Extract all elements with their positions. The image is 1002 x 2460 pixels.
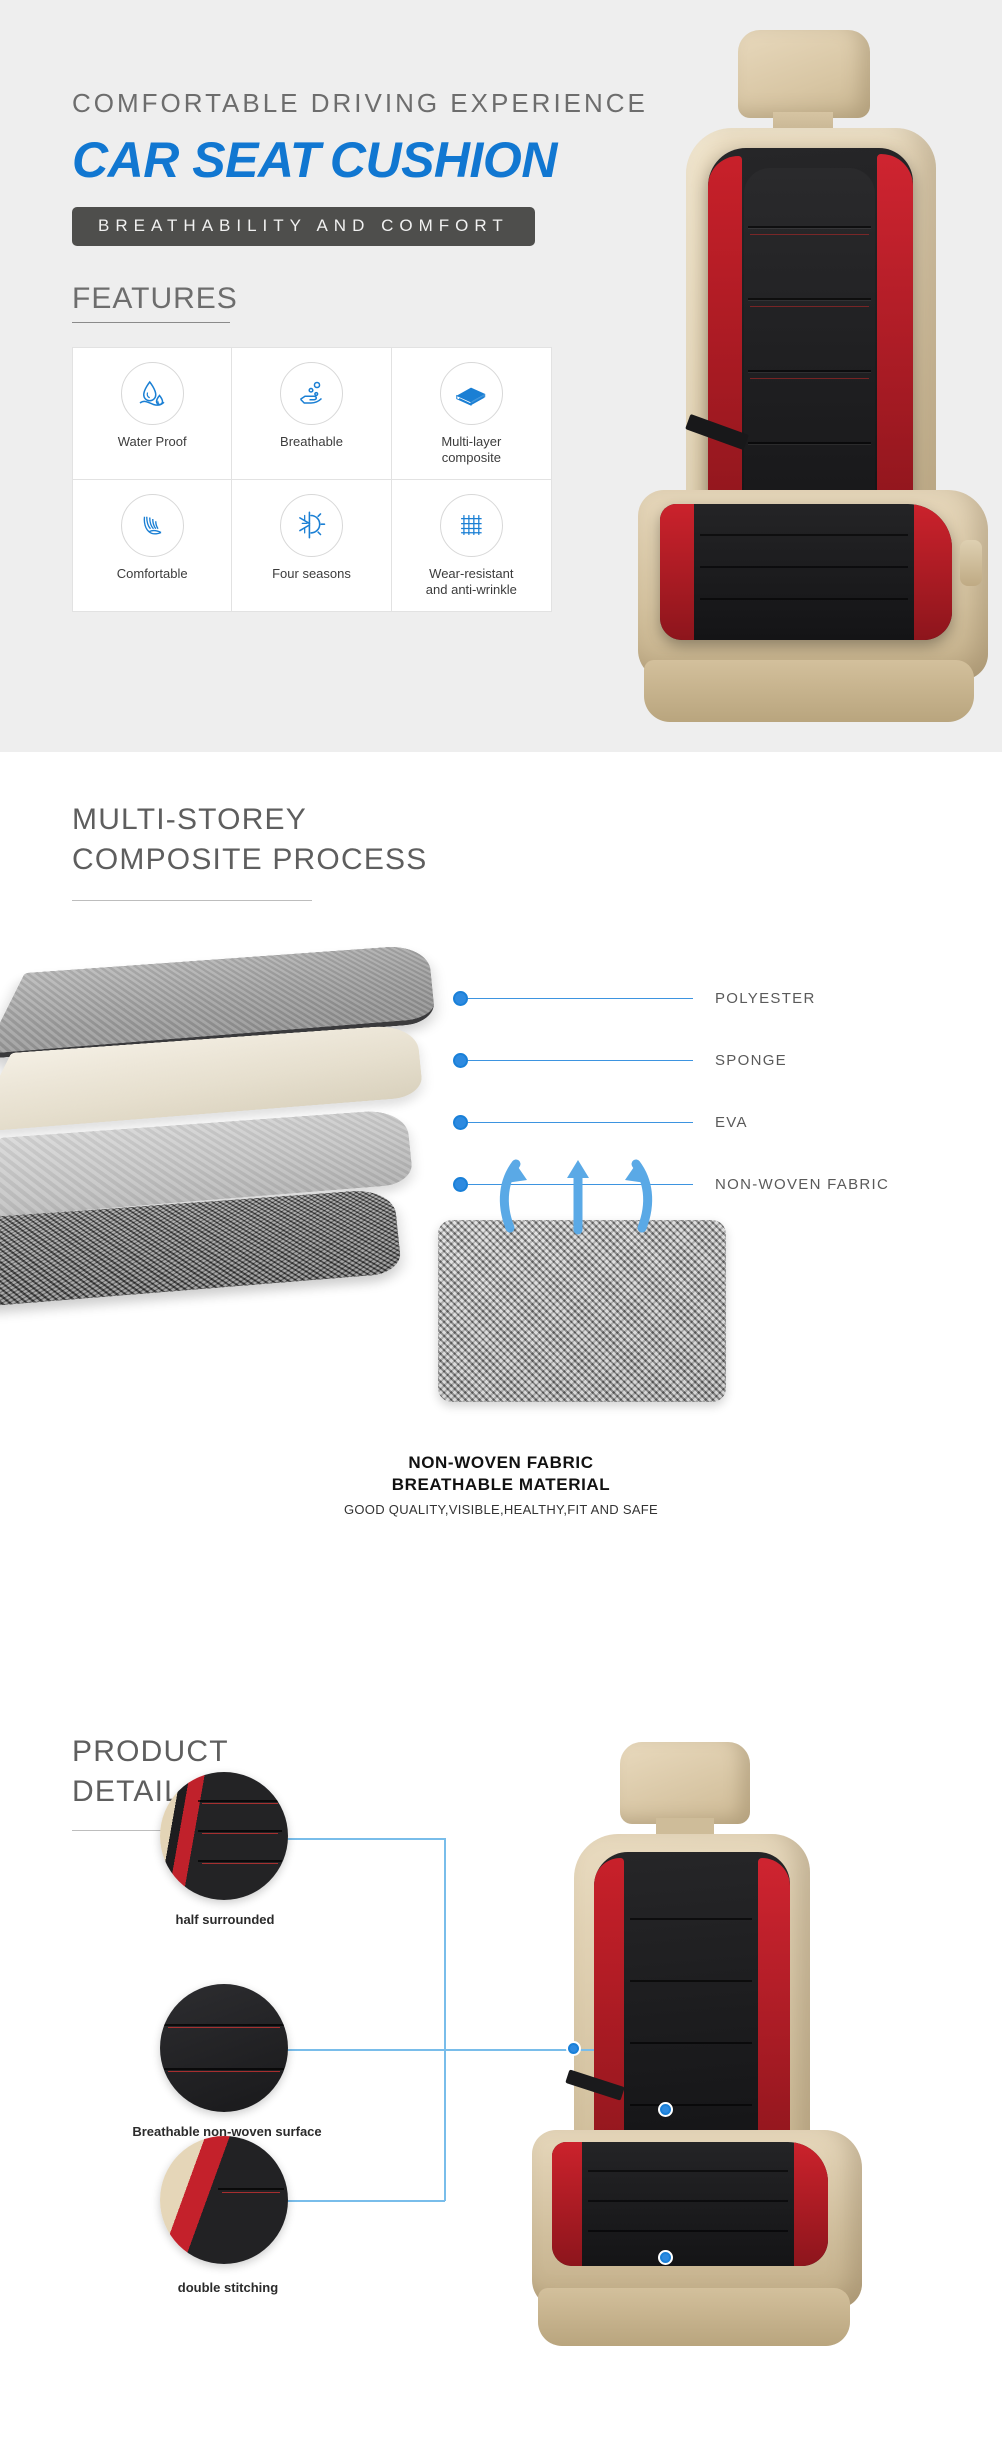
feature-label: Multi-layercomposite xyxy=(441,434,501,467)
callout-line-sponge xyxy=(468,1060,693,1061)
connector-line-3-horizontal xyxy=(285,2049,445,2051)
feather-icon xyxy=(134,507,170,543)
composite-heading-line2: COMPOSITE PROCESS xyxy=(72,843,427,876)
cushion-groove xyxy=(748,442,871,444)
callout-label-polyester: POLYESTER xyxy=(715,990,816,1007)
composite-heading: MULTI-STOREY COMPOSITE PROCESS xyxy=(72,800,427,879)
detail-red-stripe-right xyxy=(758,1858,790,2170)
thumb-image-3 xyxy=(160,2136,288,2264)
thumb-seam xyxy=(218,2188,284,2190)
cushion-groove xyxy=(748,370,871,372)
detail-dot-lower xyxy=(660,2252,671,2263)
hand-bubbles-icon xyxy=(293,376,329,412)
hero-section: COMFORTABLE DRIVING EXPERIENCE CAR SEATC… xyxy=(0,0,1002,752)
thumb-seam xyxy=(198,1860,282,1862)
thumb-seam xyxy=(198,1830,282,1832)
feature-cell-four-seasons[interactable]: Four seasons xyxy=(232,480,391,612)
thumb-red-stitch xyxy=(168,2027,280,2028)
thumb-red-stitch xyxy=(168,2071,280,2072)
callout-label-non-woven-fabric: NON-WOVEN FABRIC xyxy=(715,1176,889,1193)
fabric-caption-line2: BREATHABLE MATERIAL xyxy=(0,1474,1002,1496)
seat-cushion-red-right xyxy=(914,504,952,640)
detail-seat-red-left xyxy=(552,2142,582,2266)
detail-thumbnail-double-stitching[interactable] xyxy=(160,2136,288,2264)
cushion-groove xyxy=(748,226,871,228)
detail-caption-1: half surrounded xyxy=(100,1912,350,1927)
thumb-red-stitch xyxy=(222,2192,280,2193)
cushion-seat-panel xyxy=(660,504,952,640)
callout-line-polyester xyxy=(468,998,693,999)
feature-label-line1: Wear-resistant xyxy=(429,566,513,581)
sun-snowflake-icon xyxy=(292,506,330,544)
product-detail-heading-line1: PRODUCT xyxy=(72,1735,229,1768)
layer-stack-illustration xyxy=(0,922,510,1352)
feature-icon-circle xyxy=(280,362,343,425)
hero-headline: CAR SEATCUSHION xyxy=(72,131,632,189)
product-detail-section: PRODUCT DETAIL xyxy=(0,1712,1002,2460)
connector-line-4-horizontal xyxy=(285,2200,445,2202)
cushion-stitch xyxy=(750,234,869,235)
detail-seat-groove xyxy=(588,2170,788,2172)
detail-seat-groove xyxy=(588,2200,788,2202)
detail-caption-3: double stitching xyxy=(108,2280,348,2295)
thumb-red-stitch xyxy=(202,1803,278,1804)
airflow-arrows-icon xyxy=(470,1150,690,1240)
features-heading-rule xyxy=(72,322,230,323)
hero-text-block: COMFORTABLE DRIVING EXPERIENCE CAR SEATC… xyxy=(72,88,632,612)
water-drop-icon xyxy=(134,376,170,412)
thumb-seam xyxy=(164,2068,284,2070)
detail-cushion-groove xyxy=(630,2042,752,2044)
feature-label: Comfortable xyxy=(117,566,188,582)
seat-side-adjuster xyxy=(960,540,982,586)
feature-label-line2: and anti-wrinkle xyxy=(426,582,517,597)
composite-heading-rule xyxy=(72,900,312,901)
fabric-caption-line1: NON-WOVEN FABRIC xyxy=(0,1452,1002,1474)
feature-cell-multi-layer-composite[interactable]: Multi-layercomposite xyxy=(392,348,551,480)
feature-label: Water Proof xyxy=(118,434,187,450)
detail-seat-groove xyxy=(588,2230,788,2232)
feature-cell-breathable[interactable]: Breathable xyxy=(232,348,391,480)
thumb-image-2 xyxy=(160,1984,288,2112)
feature-icon-circle xyxy=(280,494,343,557)
feature-label-line2: composite xyxy=(442,450,501,465)
cushion-red-stripe-right xyxy=(877,154,913,526)
headline-part-1: CAR SEAT xyxy=(72,132,320,188)
cushion-stitch xyxy=(750,306,869,307)
hero-kicker: COMFORTABLE DRIVING EXPERIENCE xyxy=(72,88,632,119)
non-woven-fabric-swatch xyxy=(438,1220,726,1402)
detail-dot-upper xyxy=(568,2043,579,2054)
callout-dot-non-woven-fabric xyxy=(453,1177,468,1192)
composite-process-section: MULTI-STOREY COMPOSITE PROCESS POLYESTER… xyxy=(0,752,1002,1712)
detail-cushion-groove xyxy=(630,1918,752,1920)
feature-label: Breathable xyxy=(280,434,343,450)
thumb-red-stitch xyxy=(202,1833,278,1834)
features-heading: FEATURES xyxy=(72,282,632,316)
mesh-grid-icon xyxy=(454,508,488,542)
detail-red-stripe-left xyxy=(594,1858,624,2170)
cushion-red-stripe-left xyxy=(708,156,742,526)
detail-dot-middle xyxy=(660,2104,671,2115)
callout-line-eva xyxy=(468,1122,693,1123)
callout-dot-eva xyxy=(453,1115,468,1130)
connector-line-1-vertical xyxy=(444,1838,446,2050)
cushion-stitch xyxy=(750,378,869,379)
product-detail-heading-line2: DETAIL xyxy=(72,1775,182,1808)
connector-line-3-vertical xyxy=(444,2049,446,2201)
feature-label: Four seasons xyxy=(272,566,351,582)
thumb-image-1 xyxy=(160,1772,288,1900)
callout-label-sponge: SPONGE xyxy=(715,1052,787,1069)
fabric-caption-sub: GOOD QUALITY,VISIBLE,HEALTHY,FIT AND SAF… xyxy=(0,1502,1002,1517)
headline-part-2: CUSHION xyxy=(330,132,557,188)
feature-cell-wear-resistant[interactable]: Wear-resistantand anti-wrinkle xyxy=(392,480,551,612)
thumb-seam xyxy=(198,1800,282,1802)
callout-dot-sponge xyxy=(453,1053,468,1068)
detail-cushion-seat xyxy=(552,2142,828,2266)
seat-headrest xyxy=(738,30,870,118)
detail-thumbnail-half-surrounded[interactable] xyxy=(160,1772,288,1900)
feature-label-line1: Multi-layer xyxy=(441,434,501,449)
fabric-caption-block: NON-WOVEN FABRIC BREATHABLE MATERIAL GOO… xyxy=(0,1452,1002,1517)
feature-icon-circle xyxy=(440,362,503,425)
feature-icon-circle xyxy=(440,494,503,557)
hero-ribbon-badge: BREATHABILITY AND COMFORT xyxy=(72,207,535,246)
callout-label-eva: EVA xyxy=(715,1114,748,1131)
layers-icon xyxy=(452,375,490,413)
cushion-backrest-panel xyxy=(708,148,913,534)
detail-headrest xyxy=(620,1742,750,1824)
feature-icon-circle xyxy=(121,494,184,557)
seat-front-edge xyxy=(644,660,974,722)
feature-icon-circle xyxy=(121,362,184,425)
composite-heading-line1: MULTI-STOREY xyxy=(72,803,307,836)
seat-cushion-groove xyxy=(700,598,908,600)
product-detail-main-image xyxy=(470,1722,940,2442)
cushion-groove xyxy=(748,298,871,300)
cushion-center-panel xyxy=(744,168,875,524)
thumb-red-stitch xyxy=(202,1863,278,1864)
detail-cushion-backrest xyxy=(594,1852,790,2174)
seat-cushion-red-left xyxy=(660,504,694,640)
seat-cushion-groove xyxy=(700,534,908,536)
detail-seat-red-right xyxy=(794,2142,828,2266)
thumb-seam xyxy=(164,2024,284,2026)
callout-dot-polyester xyxy=(453,991,468,1006)
detail-seat-front-edge xyxy=(538,2288,850,2346)
detail-cushion-groove xyxy=(630,2104,752,2106)
features-grid: Water Proof Breathable xyxy=(72,347,552,612)
connector-line-1-horizontal xyxy=(285,1838,445,1840)
feature-cell-water-proof[interactable]: Water Proof xyxy=(73,348,232,480)
detail-cushion-groove xyxy=(630,1980,752,1982)
seat-cushion-groove xyxy=(700,566,908,568)
feature-label: Wear-resistantand anti-wrinkle xyxy=(426,566,517,599)
feature-cell-comfortable[interactable]: Comfortable xyxy=(73,480,232,612)
detail-thumbnail-breathable-surface[interactable] xyxy=(160,1984,288,2112)
